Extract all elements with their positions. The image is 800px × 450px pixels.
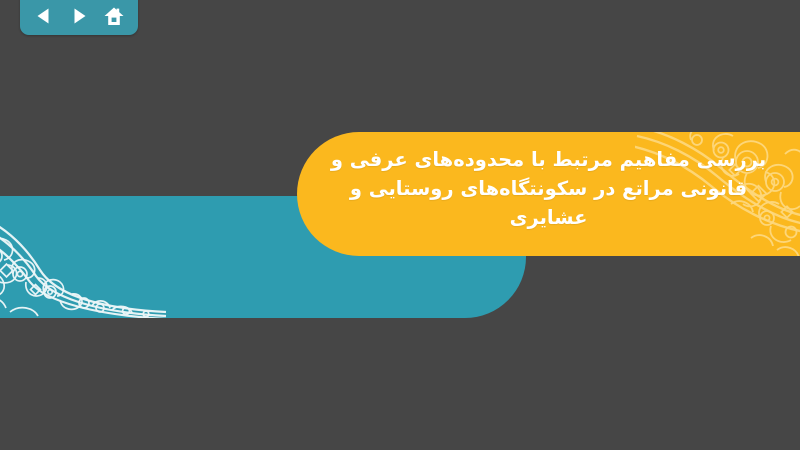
slide-title: بررسی مفاهیم مرتبط با محدوده‌های عرفی و … [297,132,800,232]
slide-title-line-2: قانونی مراتع در سکونتگاه‌های روستایی و [323,174,774,203]
title-banner: بررسی مفاهیم مرتبط با محدوده‌های عرفی و … [297,132,800,256]
slide-title-line-3: عشایری [323,203,774,232]
forward-button[interactable] [66,4,92,28]
triangle-left-icon [35,7,53,25]
navigation-bar [20,0,138,35]
slide-canvas: بررسی مفاهیم مرتبط با محدوده‌های عرفی و … [0,0,800,450]
home-icon [104,7,124,26]
home-button[interactable] [101,4,127,28]
back-button[interactable] [31,4,57,28]
triangle-right-icon [70,7,88,25]
arabesque-ornament-icon [0,208,170,318]
slide-title-line-1: بررسی مفاهیم مرتبط با محدوده‌های عرفی و [323,145,774,174]
